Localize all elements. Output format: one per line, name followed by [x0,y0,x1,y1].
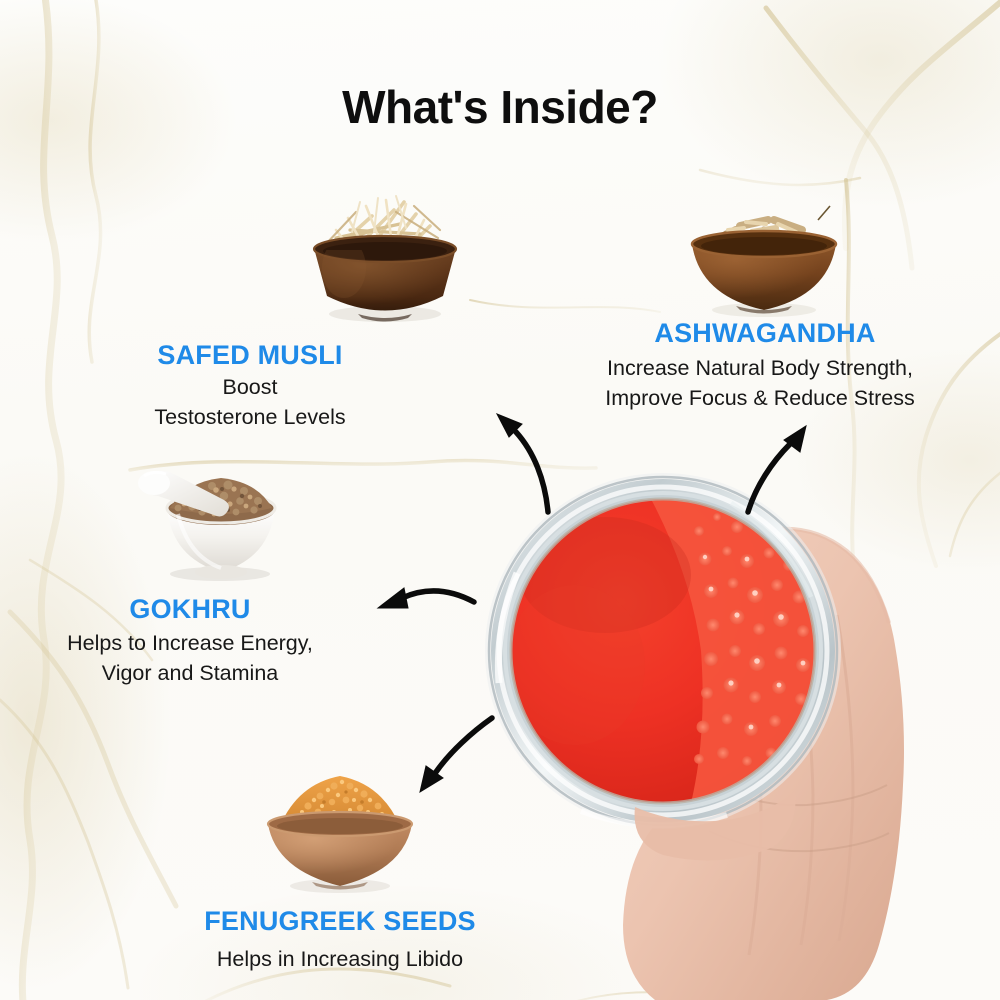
ingredient-name-safed-musli: SAFED MUSLI [0,340,500,371]
ingredient-desc-line: Boost [0,372,500,402]
arrow-to-ashwagandha [748,426,806,512]
arrow-to-fenugreek [420,718,492,792]
ingredient-name-gokhru: GOKHRU [0,594,380,625]
ingredient-desc-line: Improve Focus & Reduce Stress [530,383,990,413]
ingredient-desc-line: Testosterone Levels [0,402,500,432]
arrow-to-safed-musli [497,414,548,512]
ingredient-desc-line: Helps to Increase Energy, [0,628,380,658]
ingredient-desc-line: Helps in Increasing Libido [95,944,585,974]
ingredient-name-fenugreek-seeds: FENUGREEK SEEDS [95,906,585,937]
infographic-canvas: What's Inside? [0,0,1000,1000]
arrow-to-gokhru [378,588,474,608]
ingredient-desc-gokhru: Helps to Increase Energy, Vigor and Stam… [0,628,380,688]
ingredient-desc-fenugreek-seeds: Helps in Increasing Libido [95,944,585,974]
ingredient-name-ashwagandha: ASHWAGANDHA [540,318,990,349]
ingredient-desc-safed-musli: Boost Testosterone Levels [0,372,500,432]
ingredient-desc-line: Increase Natural Body Strength, [530,353,990,383]
ingredient-desc-ashwagandha: Increase Natural Body Strength, Improve … [530,353,990,413]
ingredient-desc-line: Vigor and Stamina [0,658,380,688]
arrow-layer [0,0,1000,1000]
